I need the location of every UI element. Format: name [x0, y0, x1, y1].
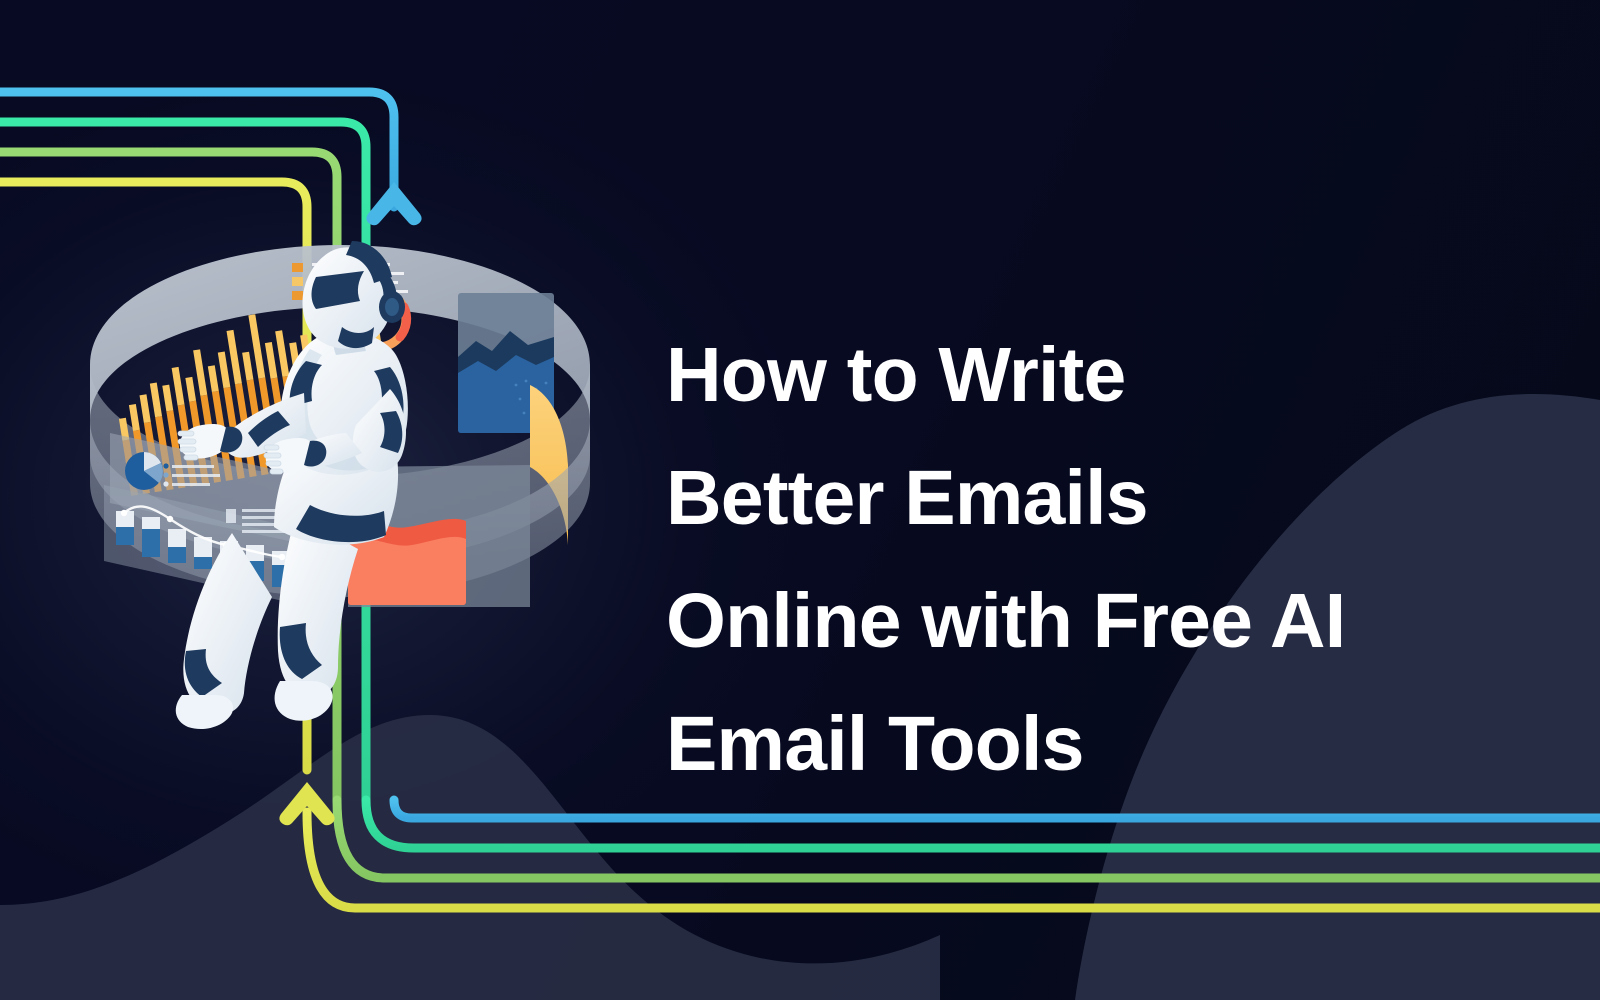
page-title: How to Write Better Emails Online with F… [666, 314, 1506, 807]
hero-banner: How to Write Better Emails Online with F… [0, 0, 1600, 1000]
rail-bottom-green [337, 800, 1600, 878]
rail-bottom-teal [366, 800, 1600, 848]
headline-line-3: Online with Free AI [666, 560, 1506, 683]
headline-line-4: Email Tools [666, 683, 1506, 806]
headline-line-2: Better Emails [666, 437, 1506, 560]
rail-bottom-yellow [307, 812, 1600, 908]
robot-dashboard-illustration [60, 215, 620, 775]
pie-chart [125, 452, 163, 490]
headline-line-1: How to Write [666, 314, 1506, 437]
